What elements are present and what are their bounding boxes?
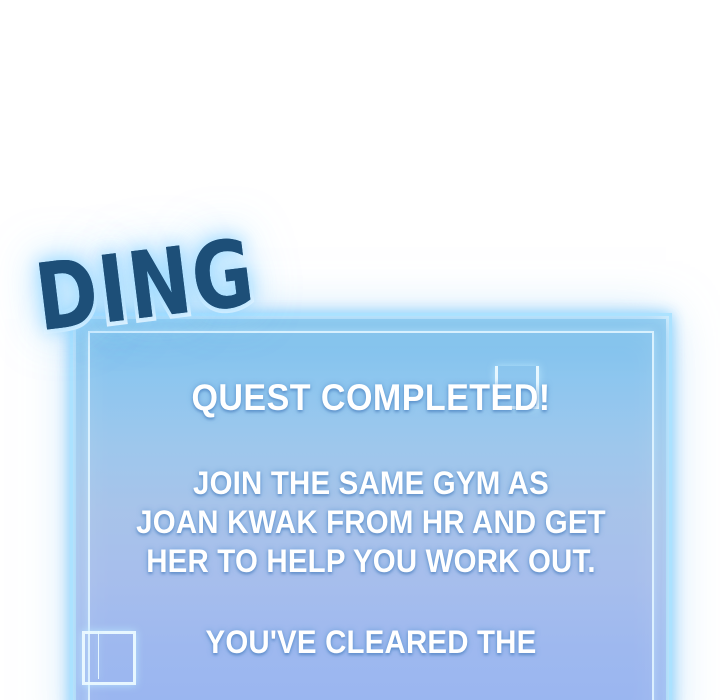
quest-text-block: QUEST COMPLETED! JOIN THE SAME GYM AS JO…: [76, 379, 666, 662]
quest-title: QUEST COMPLETED!: [100, 379, 643, 418]
quest-completed-window: QUEST COMPLETED! JOIN THE SAME GYM AS JO…: [76, 319, 666, 700]
quest-description: JOIN THE SAME GYM AS JOAN KWAK FROM HR A…: [100, 464, 643, 581]
comic-panel: QUEST COMPLETED! JOIN THE SAME GYM AS JO…: [0, 0, 720, 700]
quest-reward-line: YOU'VE CLEARED THE: [100, 623, 643, 662]
